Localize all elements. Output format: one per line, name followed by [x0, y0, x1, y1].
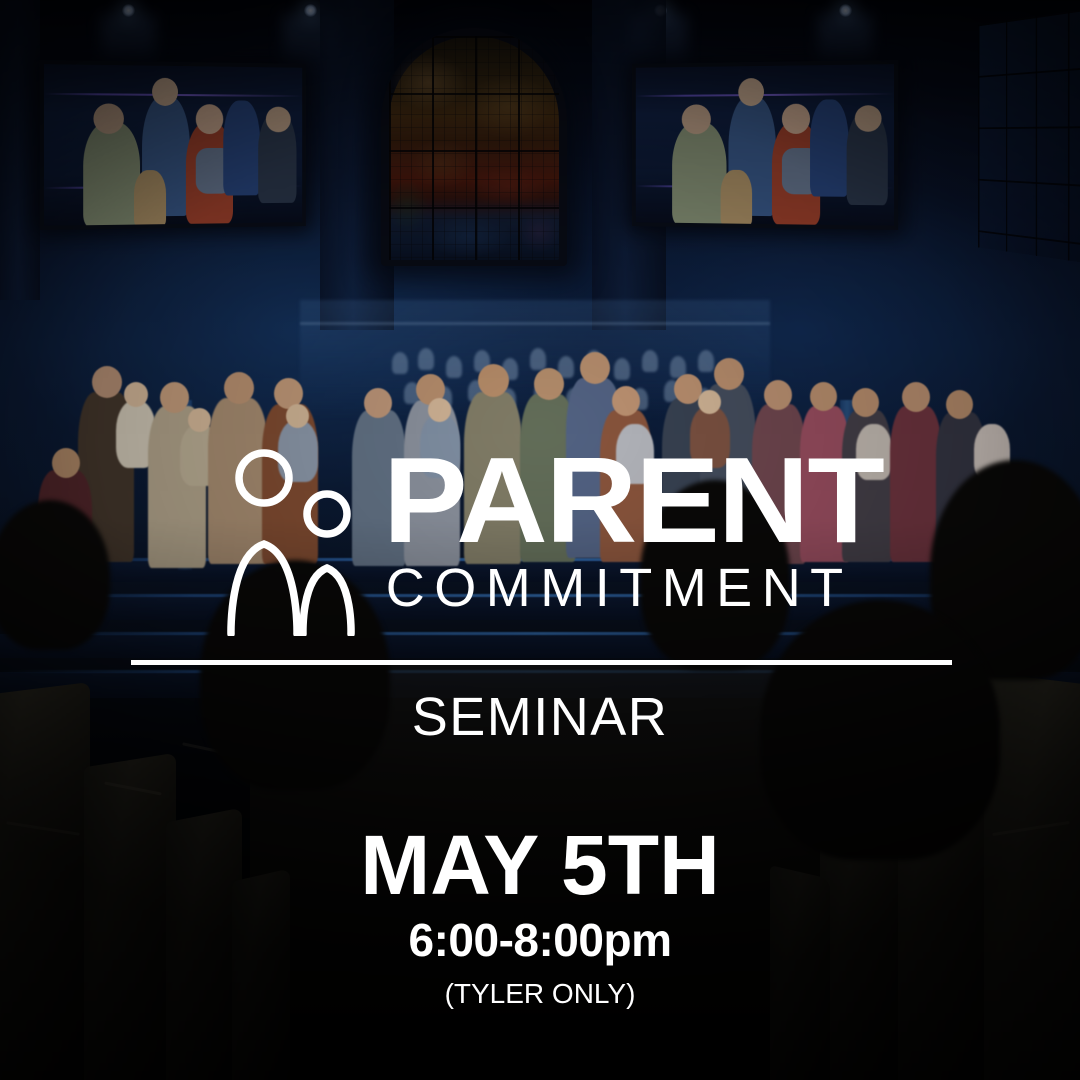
event-details: MAY 5TH 6:00-8:00pm (TYLER ONLY)	[0, 826, 1080, 1011]
wordmark: PARENT COMMITMENT	[383, 444, 864, 617]
logo-lockup: PARENT COMMITMENT	[0, 444, 1080, 636]
parent-and-child-figures-icon	[217, 446, 377, 636]
logo-title-secondary: COMMITMENT	[383, 560, 864, 617]
event-time: 6:00-8:00pm	[0, 912, 1080, 970]
event-poster: PARENT COMMITMENT SEMINAR MAY 5TH 6:00-8…	[0, 0, 1080, 1080]
divider-rule	[131, 660, 952, 665]
logo-subtitle: SEMINAR	[0, 686, 1080, 748]
event-location-note: (TYLER ONLY)	[0, 977, 1080, 1011]
poster-overlay: PARENT COMMITMENT SEMINAR MAY 5TH 6:00-8…	[0, 0, 1080, 1080]
event-date: MAY 5TH	[0, 826, 1080, 906]
logo-title-primary: PARENT	[383, 444, 883, 556]
